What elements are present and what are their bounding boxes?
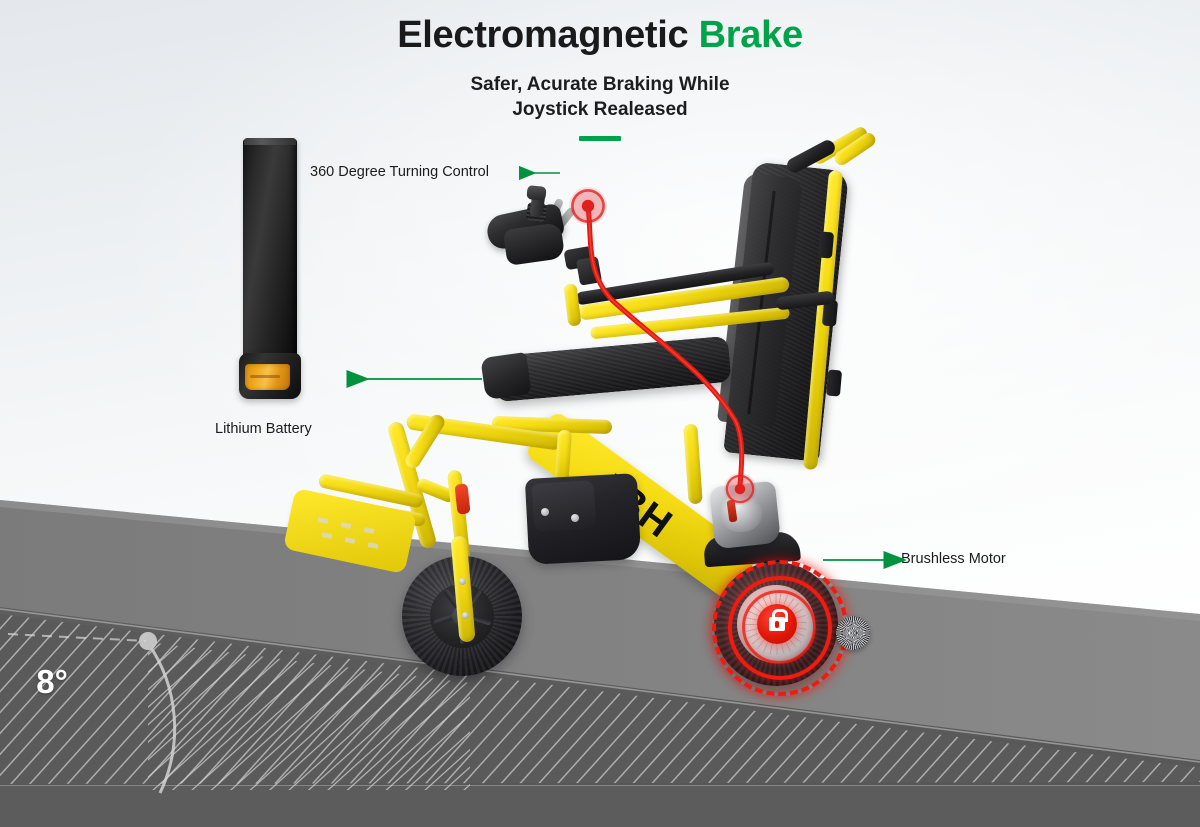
brake-cable-end-marker-icon xyxy=(724,473,756,505)
page-title: Electromagnetic Brake xyxy=(0,14,1200,58)
callout-lithium-battery-label: Lithium Battery xyxy=(215,421,312,437)
brake-cable-origin-marker-icon xyxy=(569,187,607,225)
subtitle-line-2: Joystick Realeased xyxy=(512,99,687,120)
callout-brushless-motor-label: Brushless Motor xyxy=(901,551,1006,567)
subtitle-line-1: Safer, Acurate Braking While xyxy=(470,74,729,95)
infographic-canvas: 8° xyxy=(0,0,1200,827)
callout-battery-arrow xyxy=(336,370,486,388)
title-accent: Brake xyxy=(699,14,803,56)
title-main: Electromagnetic xyxy=(397,14,688,56)
header-divider xyxy=(579,136,621,141)
callout-motor-arrow xyxy=(821,551,901,569)
callout-turning-arrow xyxy=(510,164,562,182)
page-subtitle: Safer, Acurate Braking While Joystick Re… xyxy=(0,72,1200,122)
callout-360-turning-label: 360 Degree Turning Control xyxy=(310,164,489,180)
header-block: Electromagnetic Brake Safer, Acurate Bra… xyxy=(0,14,1200,141)
